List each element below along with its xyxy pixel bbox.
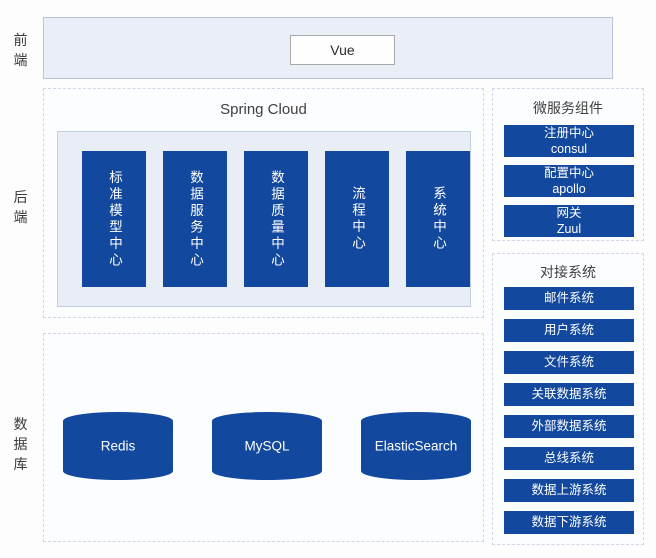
architecture-diagram: 前 端 后 端 数 据 库 Vue Spring Cloud 标准模型中心 数据… bbox=[0, 0, 656, 558]
integration-systems-panel: 对接系统 邮件系统 用户系统 文件系统 关联数据系统 外部数据系统 总线系统 数… bbox=[492, 253, 644, 545]
microservice-item-registry[interactable]: 注册中心 consul bbox=[504, 125, 634, 157]
integration-item-related-data-system[interactable]: 关联数据系统 bbox=[504, 383, 634, 406]
tier-label-database-char-2: 据 bbox=[2, 434, 40, 454]
cylinder-bottom bbox=[63, 462, 173, 480]
microservice-item-line2: consul bbox=[551, 141, 587, 157]
microservice-item-gateway[interactable]: 网关 Zuul bbox=[504, 205, 634, 237]
backend-service-data-quality-center[interactable]: 数据质量中心 bbox=[244, 151, 308, 287]
backend-service-process-center[interactable]: 流程中心 bbox=[325, 151, 389, 287]
integration-item-label: 数据上游系统 bbox=[531, 483, 606, 498]
cylinder-bottom bbox=[212, 462, 322, 480]
database-container: Redis MySQL ElasticSearch bbox=[43, 333, 484, 542]
cylinder-top bbox=[361, 412, 471, 430]
database-store-label: Redis bbox=[63, 439, 173, 454]
backend-service-label: 数据质量中心 bbox=[267, 170, 285, 269]
backend-service-label: 流程中心 bbox=[348, 186, 366, 252]
cylinder-top bbox=[212, 412, 322, 430]
backend-service-label: 系统中心 bbox=[429, 186, 447, 252]
integration-item-user-system[interactable]: 用户系统 bbox=[504, 319, 634, 342]
tier-label-backend: 后 端 bbox=[2, 187, 40, 227]
database-store-mysql[interactable]: MySQL bbox=[212, 412, 322, 480]
backend-services-panel: 标准模型中心 数据服务中心 数据质量中心 流程中心 系统中心 bbox=[57, 131, 471, 307]
integration-item-label: 关联数据系统 bbox=[531, 387, 606, 402]
integration-item-label: 外部数据系统 bbox=[531, 419, 606, 434]
backend-service-standard-model-center[interactable]: 标准模型中心 bbox=[82, 151, 146, 287]
cylinder-top bbox=[63, 412, 173, 430]
backend-service-system-center[interactable]: 系统中心 bbox=[406, 151, 470, 287]
frontend-item-vue-label: Vue bbox=[330, 42, 354, 58]
microservice-item-line1: 配置中心 bbox=[544, 165, 594, 181]
microservice-item-line2: Zuul bbox=[557, 221, 581, 237]
backend-springcloud-container: Spring Cloud 标准模型中心 数据服务中心 数据质量中心 流程中心 系… bbox=[43, 88, 484, 318]
integration-item-label: 文件系统 bbox=[544, 355, 594, 370]
tier-label-database-char-1: 数 bbox=[2, 414, 40, 434]
microservice-item-line1: 注册中心 bbox=[544, 125, 594, 141]
integration-item-upstream-data-system[interactable]: 数据上游系统 bbox=[504, 479, 634, 502]
tier-label-frontend-char-2: 端 bbox=[2, 50, 40, 70]
tier-label-database: 数 据 库 bbox=[2, 414, 40, 474]
integration-item-label: 用户系统 bbox=[544, 323, 594, 338]
database-store-redis[interactable]: Redis bbox=[63, 412, 173, 480]
database-store-elasticsearch[interactable]: ElasticSearch bbox=[361, 412, 471, 480]
frontend-panel: Vue bbox=[43, 17, 613, 79]
integration-item-mail-system[interactable]: 邮件系统 bbox=[504, 287, 634, 310]
tier-label-frontend: 前 端 bbox=[2, 30, 40, 70]
integration-systems-title: 对接系统 bbox=[493, 263, 643, 281]
cylinder-bottom bbox=[361, 462, 471, 480]
integration-item-label: 总线系统 bbox=[544, 451, 594, 466]
microservice-item-line1: 网关 bbox=[556, 205, 581, 221]
integration-item-downstream-data-system[interactable]: 数据下游系统 bbox=[504, 511, 634, 534]
backend-service-label: 标准模型中心 bbox=[105, 170, 123, 269]
integration-item-label: 数据下游系统 bbox=[531, 515, 606, 530]
microservice-components-panel: 微服务组件 注册中心 consul 配置中心 apollo 网关 Zuul bbox=[492, 88, 644, 241]
tier-label-backend-char-2: 端 bbox=[2, 207, 40, 227]
microservice-components-title: 微服务组件 bbox=[493, 99, 643, 117]
integration-item-file-system[interactable]: 文件系统 bbox=[504, 351, 634, 374]
integration-item-label: 邮件系统 bbox=[544, 291, 594, 306]
microservice-item-line2: apollo bbox=[552, 181, 585, 197]
tier-label-database-char-3: 库 bbox=[2, 454, 40, 474]
integration-item-bus-system[interactable]: 总线系统 bbox=[504, 447, 634, 470]
backend-service-label: 数据服务中心 bbox=[186, 170, 204, 269]
database-store-label: ElasticSearch bbox=[361, 439, 471, 454]
database-store-label: MySQL bbox=[212, 439, 322, 454]
spring-cloud-title: Spring Cloud bbox=[44, 101, 483, 119]
tier-label-backend-char-1: 后 bbox=[2, 187, 40, 207]
tier-label-frontend-char-1: 前 bbox=[2, 30, 40, 50]
backend-service-data-service-center[interactable]: 数据服务中心 bbox=[163, 151, 227, 287]
integration-item-external-data-system[interactable]: 外部数据系统 bbox=[504, 415, 634, 438]
microservice-item-config[interactable]: 配置中心 apollo bbox=[504, 165, 634, 197]
frontend-item-vue[interactable]: Vue bbox=[290, 35, 395, 65]
